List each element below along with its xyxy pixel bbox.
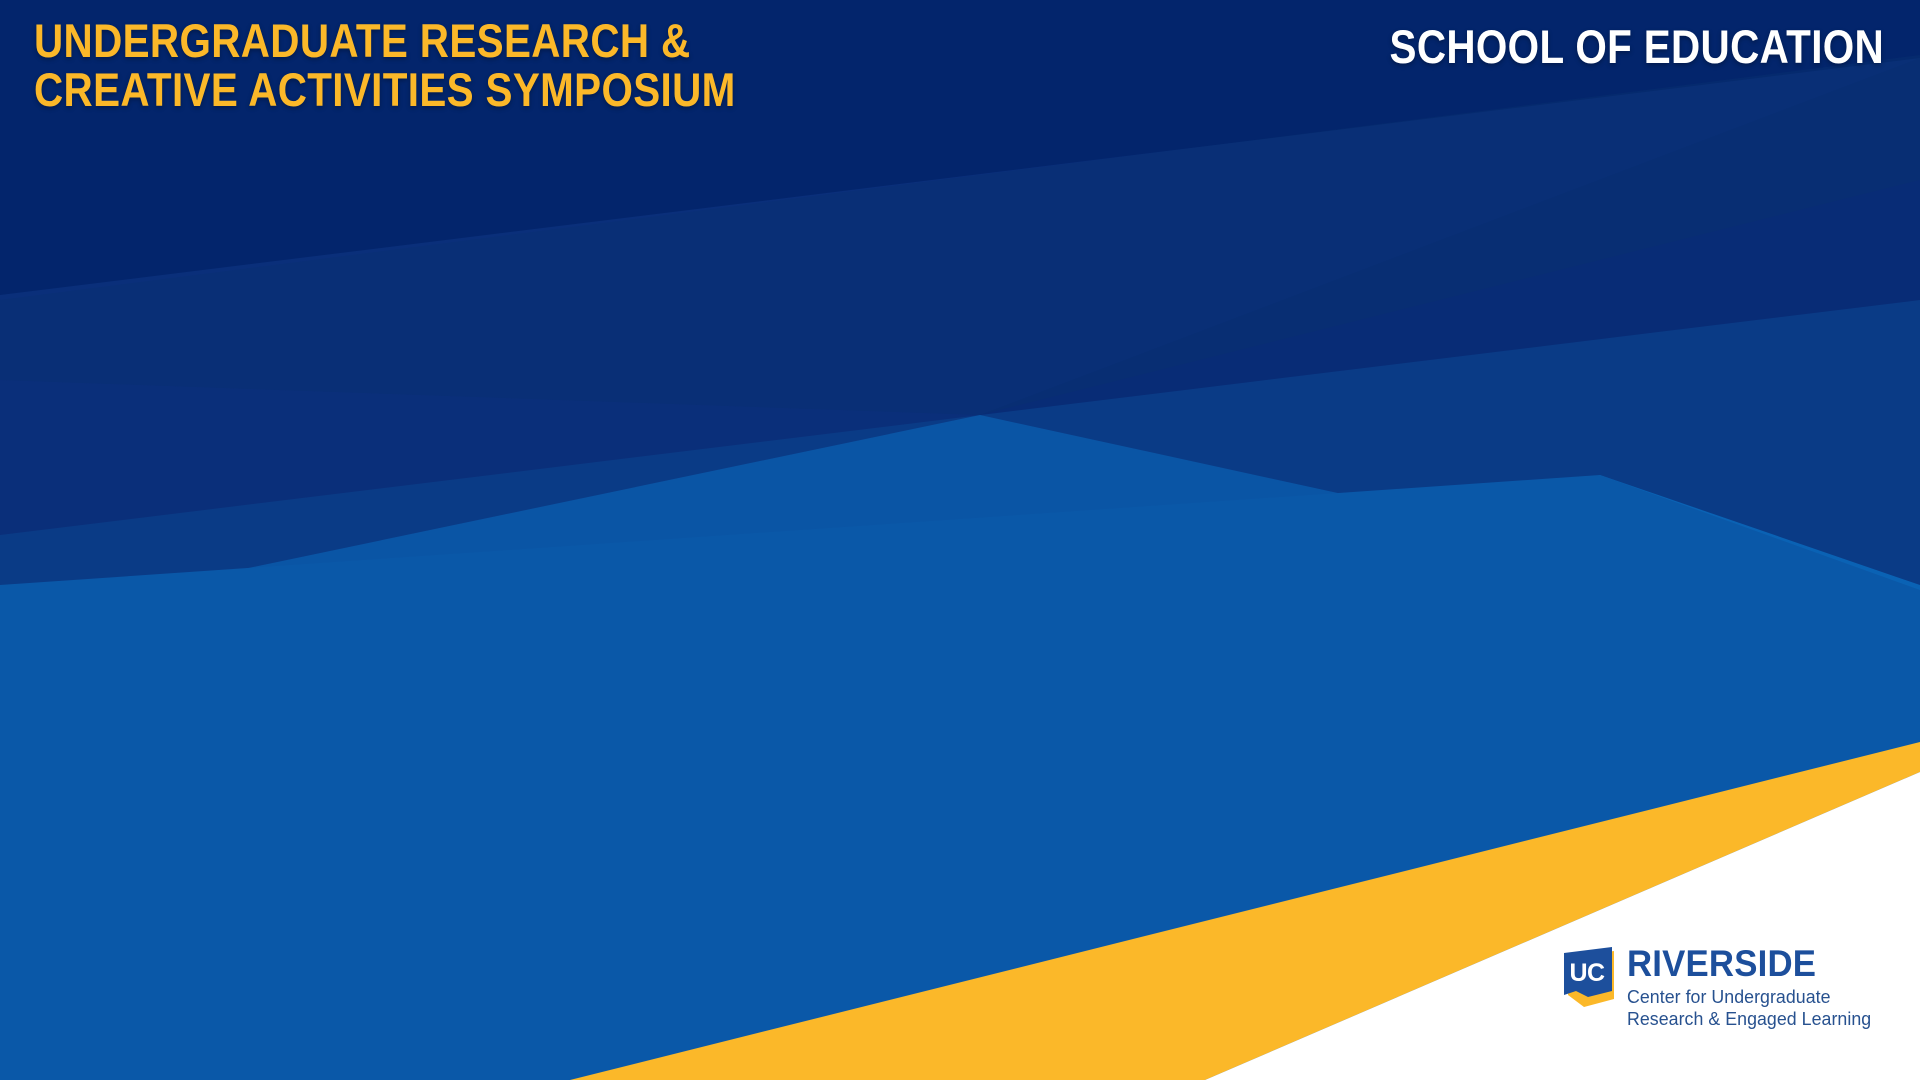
unit-title: SCHOOL OF EDUCATION	[1389, 22, 1884, 71]
logo-subtitle-line-1: Center for Undergraduate	[1627, 986, 1871, 1007]
bg-white-corner	[1205, 772, 1920, 1080]
logo-riverside-text: RIVERSIDE	[1627, 946, 1866, 982]
ucr-banner-icon: UC	[1562, 945, 1618, 1019]
logo-subtitle-line-2: Research & Engaged Learning	[1627, 1008, 1871, 1029]
title-slide: UNDERGRADUATE RESEARCH & CREATIVE ACTIVI…	[0, 0, 1920, 1080]
ucr-wordmark: RIVERSIDE Center for Undergraduate Resea…	[1627, 944, 1881, 1029]
page-title: UNDERGRADUATE RESEARCH & CREATIVE ACTIVI…	[34, 16, 736, 115]
bg-wedge-upper-right	[980, 58, 1920, 470]
ucr-logo-lockup: UC RIVERSIDE Center for Undergraduate Re…	[1562, 944, 1881, 1029]
background-graphic	[0, 0, 1920, 1080]
logo-subtitle: Center for Undergraduate Research & Enga…	[1627, 986, 1871, 1029]
bg-band-navy-mid	[0, 58, 1920, 1080]
bg-gold-diagonal	[570, 742, 1920, 1080]
bg-base-navy	[0, 0, 1920, 1080]
logo-uc-text: UC	[1569, 959, 1605, 987]
